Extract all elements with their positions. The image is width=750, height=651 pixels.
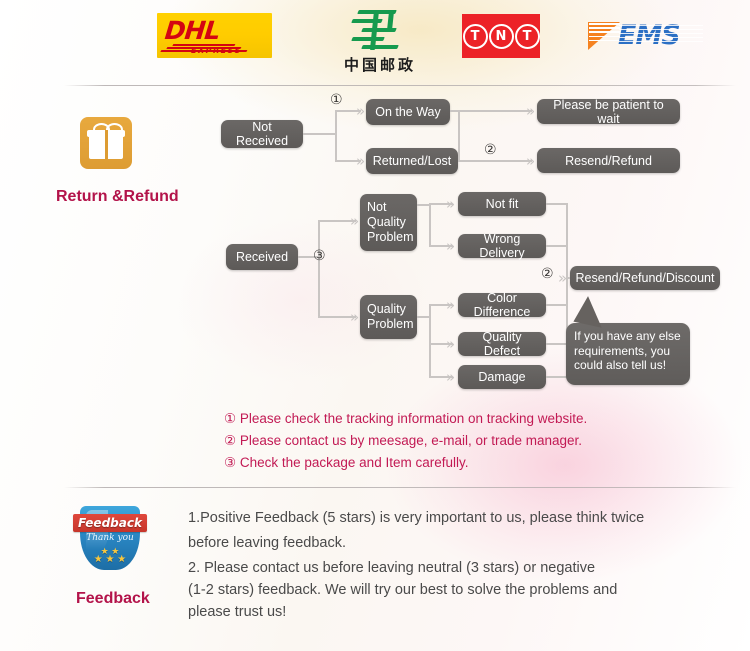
feedback-line-2: before leaving feedback. xyxy=(188,531,346,556)
connector-line xyxy=(429,304,431,377)
connector-line xyxy=(546,376,568,378)
note-3: ③ Check the package and Item carefully. xyxy=(224,452,468,474)
arrow-icon: » xyxy=(526,104,535,119)
node-quality-defect: Quality Defect xyxy=(458,332,546,356)
ems-triangle-stripes xyxy=(589,23,620,49)
arrow-icon: » xyxy=(446,298,455,313)
callout-bubble: If you have any else requirements, you c… xyxy=(566,323,690,385)
china-post-mark-icon xyxy=(348,8,410,52)
arrow-icon: » xyxy=(350,214,359,229)
return-refund-title: Return &Refund xyxy=(56,188,179,206)
node-not-quality-problem: Not Quality Problem xyxy=(360,194,417,251)
connector-line xyxy=(429,204,431,246)
connector-line xyxy=(458,160,532,162)
arrow-icon: » xyxy=(446,197,455,212)
tnt-logo-box: T N T xyxy=(462,14,540,58)
node-please-be-patient: Please be patient to wait xyxy=(537,99,680,124)
node-resend-refund-discount: Resend/Refund/Discount xyxy=(570,266,720,290)
feedback-stars-row-2: ★ ★ ★ xyxy=(73,555,147,564)
connector-line xyxy=(318,221,320,317)
node-wrong-delivery: Wrong Delivery xyxy=(458,234,546,258)
feedback-ribbon: Feedback xyxy=(73,514,147,532)
china-post-label: 中国邮政 xyxy=(330,54,430,75)
arrow-icon: » xyxy=(446,370,455,385)
china-post-logo: 中国邮政 xyxy=(330,8,430,78)
tnt-letter: T xyxy=(523,30,532,43)
promo-banner: DHL EXPRESS 中国邮政 T N T EMS xyxy=(0,0,750,651)
note-2: ② Please contact us by meesage, e-mail, … xyxy=(224,430,582,452)
tnt-letter-circle: T xyxy=(515,24,540,49)
node-not-fit: Not fit xyxy=(458,192,546,216)
tnt-logo: T N T xyxy=(462,14,540,58)
tnt-letter-circle: N xyxy=(489,24,514,49)
dhl-logo-box: DHL EXPRESS xyxy=(157,13,272,58)
callout-tail-icon xyxy=(573,294,607,327)
node-not-received: Not Received xyxy=(221,120,303,148)
feedback-ribbon-text: Feedback xyxy=(73,514,147,532)
dhl-wordmark: DHL xyxy=(165,18,264,43)
tnt-letter: N xyxy=(496,30,507,43)
connector-line xyxy=(450,110,532,112)
tnt-letter: T xyxy=(471,30,480,43)
ems-wordmark: EMS xyxy=(618,22,680,49)
divider-middle xyxy=(64,487,736,488)
arrow-icon: » xyxy=(356,104,365,119)
node-received: Received xyxy=(226,244,298,270)
dhl-wordmark-text: DHL xyxy=(164,18,266,43)
tnt-letter-circle: T xyxy=(463,24,488,49)
node-resend-refund: Resend/Refund xyxy=(537,148,680,173)
callout-bubble-text: If you have any else requirements, you c… xyxy=(574,329,681,372)
gift-box-icon xyxy=(80,117,132,169)
dhl-express-text: EXPRESS xyxy=(191,46,242,55)
feedback-title: Feedback xyxy=(76,590,150,608)
connector-line xyxy=(303,133,337,135)
connector-line xyxy=(458,110,460,161)
marker-3: ③ xyxy=(313,249,326,263)
feedback-thanks-text: Thank you xyxy=(73,533,147,543)
feedback-line-1: 1.Positive Feedback (5 stars) is very im… xyxy=(188,506,644,531)
arrow-icon: » xyxy=(356,154,365,169)
marker-2: ② xyxy=(484,143,497,157)
arrow-icon: » xyxy=(446,337,455,352)
connector-line xyxy=(546,304,568,306)
feedback-line-5: please trust us! xyxy=(188,600,286,625)
feedback-badge-icon: Feedback Thank you ★ ★ ★ ★ ★ xyxy=(73,503,147,573)
arrow-icon: » xyxy=(350,310,359,325)
arrow-icon: » xyxy=(446,239,455,254)
connector-line xyxy=(546,343,568,345)
marker-1: ① xyxy=(330,93,343,107)
connector-line xyxy=(546,245,568,247)
note-1: ① Please check the tracking information … xyxy=(224,408,587,430)
dhl-logo: DHL EXPRESS xyxy=(157,13,272,58)
node-returned-lost: Returned/Lost xyxy=(366,148,458,174)
divider-top xyxy=(64,85,736,86)
arrow-icon: » xyxy=(526,154,535,169)
ems-logo: EMS xyxy=(588,16,708,58)
node-damage: Damage xyxy=(458,365,546,389)
node-quality-problem: Quality Problem xyxy=(360,295,417,339)
marker-2b: ② xyxy=(541,267,554,281)
node-color-difference: Color Difference xyxy=(458,293,546,317)
arrow-icon: » xyxy=(558,271,567,286)
connector-line xyxy=(546,203,568,205)
node-on-the-way: On the Way xyxy=(366,99,450,125)
connector-line xyxy=(335,111,337,161)
